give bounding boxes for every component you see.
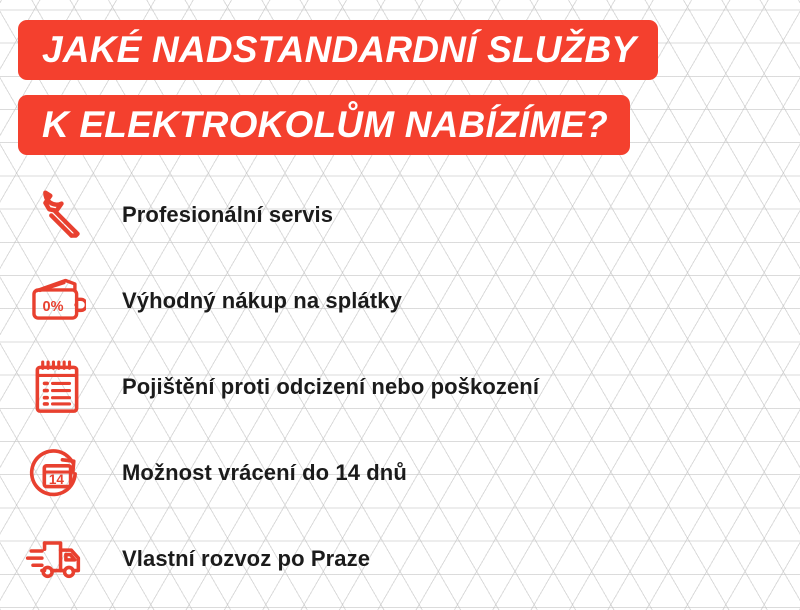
delivery-truck-icon (0, 523, 104, 595)
headline-line-2: K ELEKTROKOLŮM NABÍZÍME? (18, 95, 630, 155)
wallet-icon-text: 0% (43, 299, 64, 315)
feature-label: Výhodný nákup na splátky (104, 290, 402, 312)
feature-label: Možnost vrácení do 14 dnů (104, 462, 407, 484)
feature-row: Pojištění proti odcizení nebo poškození (0, 344, 800, 430)
headline: JAKÉ NADSTANDARDNÍ SLUŽBY K ELEKTROKOLŮM… (18, 20, 778, 155)
infographic-card: JAKÉ NADSTANDARDNÍ SLUŽBY K ELEKTROKOLŮM… (0, 0, 800, 610)
wallet-zero-percent-icon: 0% (0, 265, 104, 337)
feature-list: Profesionální servis 0% (0, 172, 800, 602)
feature-label: Pojištění proti odcizení nebo poškození (104, 376, 539, 398)
return-icon-text: 14 (49, 472, 65, 487)
return-14-days-icon: 14 (0, 437, 104, 509)
wrench-icon (0, 179, 104, 251)
content-layer: JAKÉ NADSTANDARDNÍ SLUŽBY K ELEKTROKOLŮM… (0, 0, 800, 610)
notepad-list-icon (0, 351, 104, 423)
feature-row: 14 Možnost vrácení do 14 dnů (0, 430, 800, 516)
feature-row: Vlastní rozvoz po Praze (0, 516, 800, 602)
feature-row: Profesionální servis (0, 172, 800, 258)
feature-row: 0% Výhodný nákup na splátky (0, 258, 800, 344)
feature-label: Vlastní rozvoz po Praze (104, 548, 370, 570)
feature-label: Profesionální servis (104, 204, 333, 226)
headline-line-1: JAKÉ NADSTANDARDNÍ SLUŽBY (18, 20, 658, 80)
